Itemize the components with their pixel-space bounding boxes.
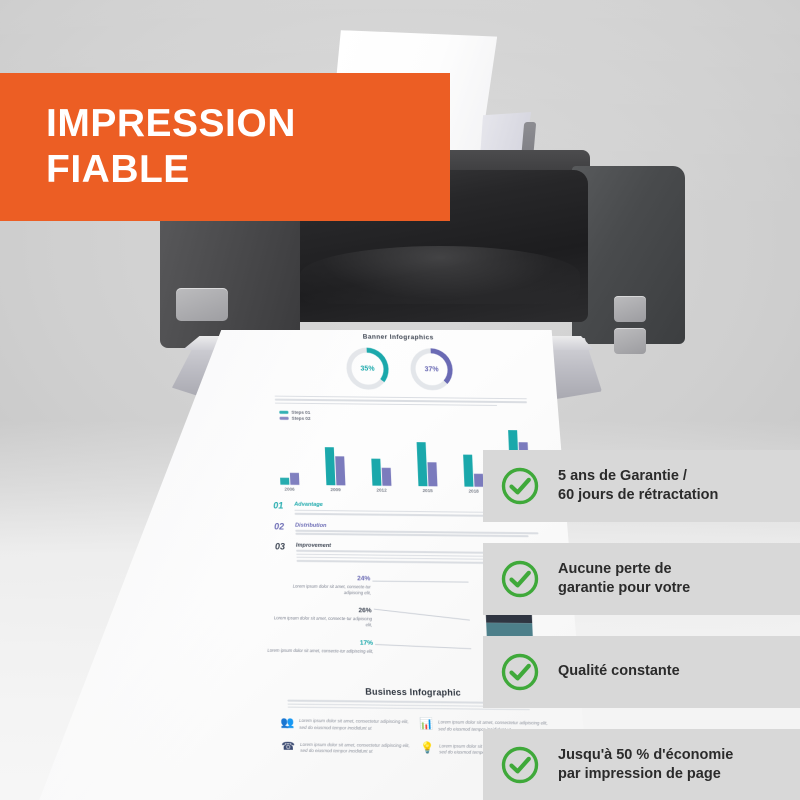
- bar: [371, 459, 381, 486]
- bar: [289, 473, 299, 485]
- bar: [335, 456, 345, 486]
- pyramid-label-2: 26% Lorem ipsum dolor sit amet, consecte…: [270, 607, 373, 628]
- phone-clock-icon: ☎: [281, 742, 295, 753]
- bar-group: [272, 423, 305, 485]
- promo-image: Banner Infographics 35% 37% Steps 01 Ste…: [0, 0, 800, 800]
- lightbulb-icon: 💡: [420, 743, 434, 754]
- list-item-number: 02: [274, 521, 290, 531]
- feature-callout: 5 ans de Garantie /60 jours de rétractat…: [483, 450, 800, 522]
- legend-label-1: Steps 01: [291, 410, 310, 415]
- feature-callout-list: 5 ans de Garantie /60 jours de rétractat…: [483, 450, 800, 800]
- icon-feature-cell: 👥 Lorem ipsum dolor sit amet, consectetu…: [280, 718, 410, 732]
- pyramid-text-3: Lorem ipsum dolor sit amet, consecte-tur…: [265, 647, 373, 654]
- feature-callout-text: Jusqu'à 50 % d'économiepar impression de…: [558, 746, 733, 784]
- pyramid-percent-1: 24%: [274, 575, 370, 583]
- headline-line-1: IMPRESSION: [46, 101, 450, 147]
- feature-callout: Aucune perte degarantie pour votre: [483, 543, 800, 615]
- check-circle-icon: [500, 652, 540, 692]
- people-group-icon: 👥: [280, 718, 294, 729]
- x-axis-tick-label: 2006: [274, 487, 304, 492]
- pyramid-label-1: 24% Lorem ipsum dolor sit amet, consecte…: [274, 575, 371, 596]
- legend-label-2: Steps 02: [292, 416, 311, 421]
- printer-right-button-top: [614, 296, 646, 322]
- printer-right-button-bottom: [614, 328, 646, 354]
- leader-line-1: [372, 581, 468, 583]
- bar: [381, 468, 391, 487]
- bar: [427, 462, 437, 487]
- pyramid-percent-2: 26%: [270, 607, 372, 615]
- bar: [473, 474, 483, 488]
- donut-chart-1-label: 35%: [360, 365, 374, 372]
- check-circle-icon: [500, 745, 540, 785]
- headline-banner: IMPRESSION FIABLE: [0, 73, 450, 221]
- intro-text-placeholder: [275, 396, 527, 407]
- icon-feature-cell: ☎ Lorem ipsum dolor sit amet, consectetu…: [281, 742, 411, 756]
- x-axis-tick-label: 2009: [321, 488, 351, 493]
- bar-chart-legend: Steps 01 Steps 02: [279, 410, 542, 424]
- pyramid-label-3: 17% Lorem ipsum dolor sit amet, consecte…: [265, 639, 374, 654]
- x-axis-tick-label: 2012: [367, 488, 397, 493]
- feature-callout-text: 5 ans de Garantie /60 jours de rétractat…: [558, 467, 718, 505]
- check-circle-icon: [500, 466, 540, 506]
- bar-group: [364, 424, 397, 486]
- printer-left-button: [176, 288, 228, 321]
- bar: [324, 447, 335, 486]
- list-item-number: 01: [273, 501, 289, 511]
- check-circle-icon: [500, 559, 540, 599]
- icon-feature-text: Lorem ipsum dolor sit amet, consectetur …: [300, 742, 411, 756]
- donut-chart-2: 37%: [410, 348, 454, 390]
- printer-gloss-highlight: [300, 246, 580, 304]
- donut-chart-group: 35% 37%: [259, 347, 541, 392]
- bar-group: [410, 425, 443, 487]
- leader-line-3: [375, 644, 471, 649]
- feature-callout-text: Qualité constante: [558, 662, 680, 681]
- bar-group: [318, 424, 351, 486]
- list-item-number: 03: [275, 541, 291, 551]
- feature-callout: Qualité constante: [483, 636, 800, 708]
- donut-chart-1: 35%: [346, 347, 390, 389]
- legend-swatch-2: [280, 417, 289, 420]
- infographic-header-title: Banner Infographics: [258, 333, 538, 343]
- icon-feature-text: Lorem ipsum dolor sit amet, consectetur …: [299, 718, 410, 732]
- legend-swatch-1: [279, 411, 288, 414]
- donut-chart-2-label: 37%: [424, 366, 438, 373]
- bar: [280, 478, 289, 486]
- bar: [463, 455, 473, 487]
- feature-callout: Jusqu'à 50 % d'économiepar impression de…: [483, 729, 800, 800]
- headline-line-2: FIABLE: [46, 147, 450, 193]
- growth-chart-icon: 📊: [419, 719, 433, 730]
- feature-callout-text: Aucune perte degarantie pour votre: [558, 560, 690, 598]
- bar: [416, 442, 427, 487]
- pyramid-text-1: Lorem ipsum dolor sit amet, consecte-tur…: [275, 584, 372, 597]
- pyramid-text-2: Lorem ipsum dolor sit amet, consecte-tur…: [270, 616, 373, 629]
- x-axis-tick-label: 2015: [413, 489, 443, 494]
- pyramid-percent-3: 17%: [265, 639, 373, 647]
- leader-line-2: [374, 609, 470, 621]
- printer-left-housing: [160, 208, 300, 348]
